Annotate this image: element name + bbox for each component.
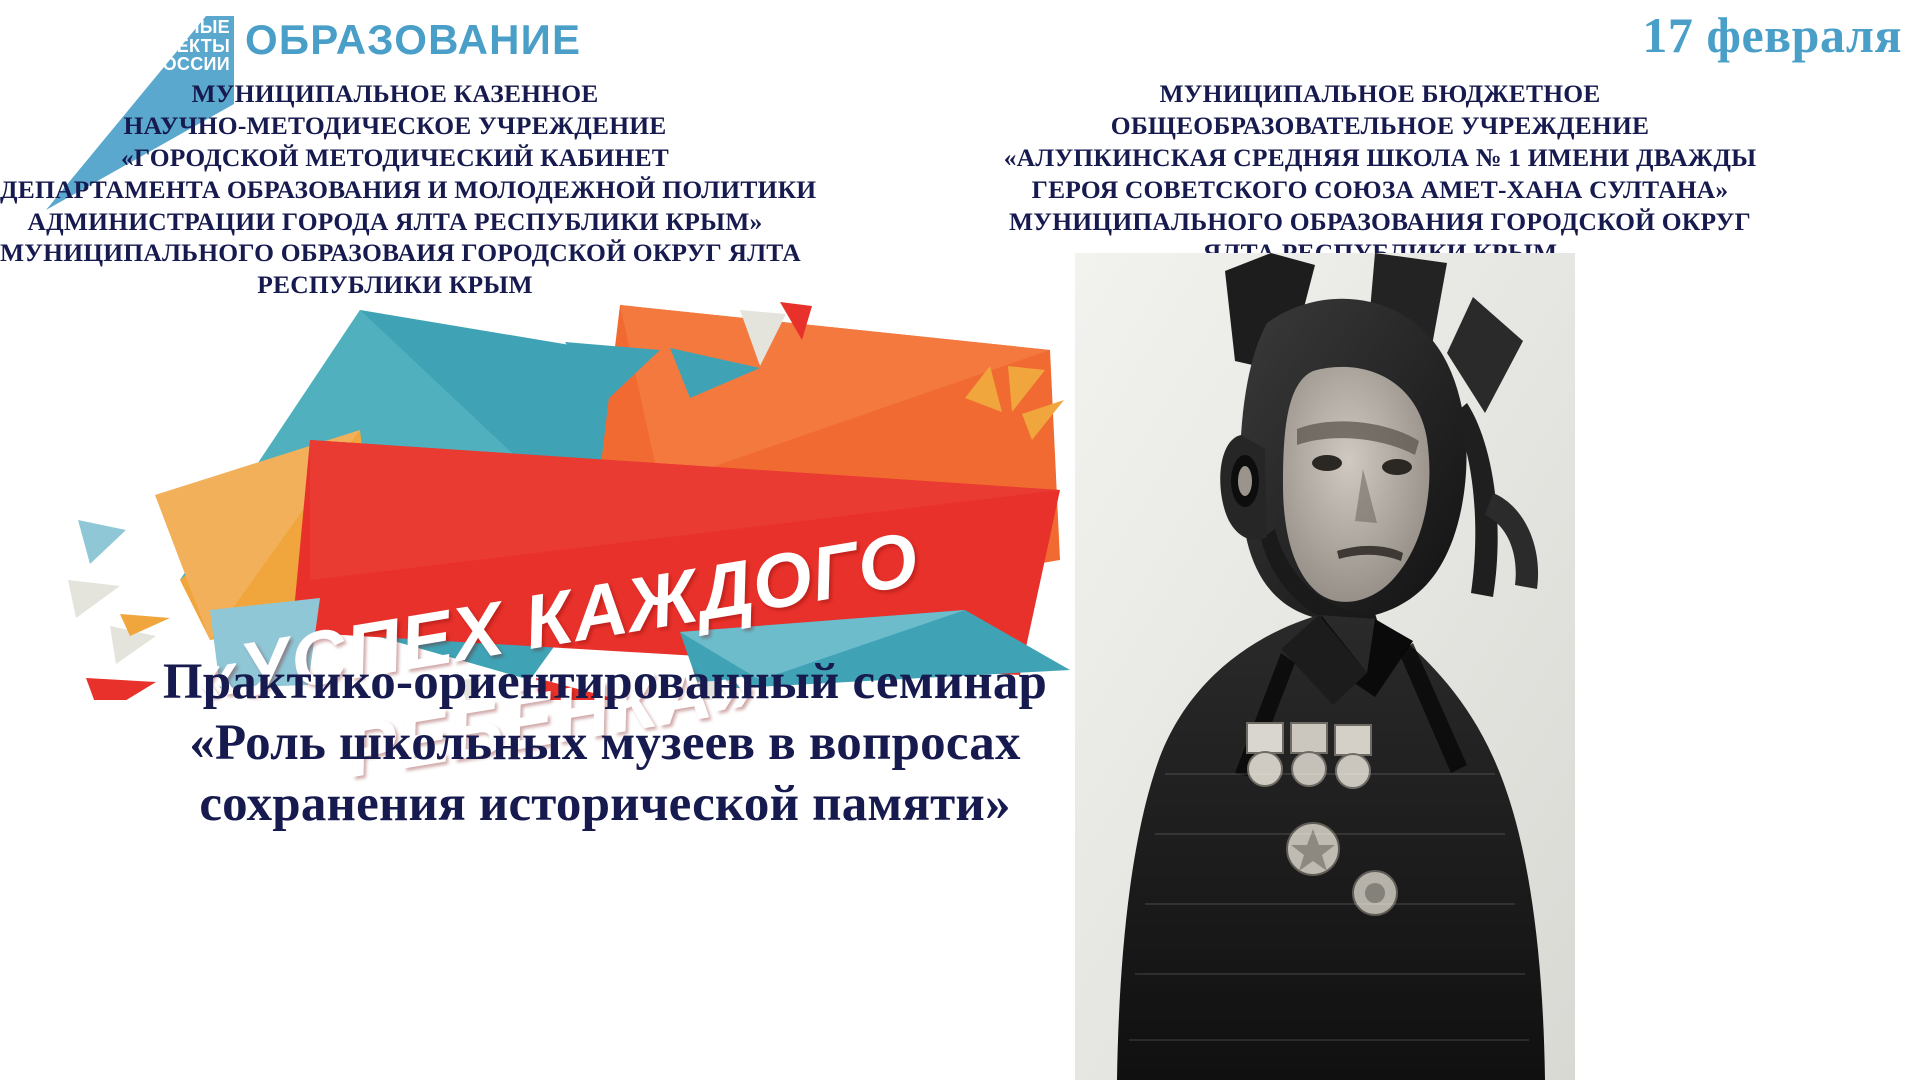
logo-wordmark: НАЦИОНАЛЬНЫЕ ПРОЕКТЫ РОССИИ xyxy=(66,18,230,74)
logo-line-3: РОССИИ xyxy=(66,55,230,74)
event-title: Практико-ориентированный семинар «Роль ш… xyxy=(100,652,1110,836)
org-left-line-1: МУНИЦИПАЛЬНОЕ КАЗЕННОЕ xyxy=(0,78,790,110)
event-title-line-1: Практико-ориентированный семинар xyxy=(100,652,1110,713)
logo-line-2: ПРОЕКТЫ xyxy=(66,37,230,56)
event-date: 17 февраля xyxy=(1642,6,1902,64)
org-left-line-3: «ГОРОДСКОЙ МЕТОДИЧЕСКИЙ КАБИНЕТ xyxy=(0,142,790,174)
org-right-line-5: МУНИЦИПАЛЬНОГО ОБРАЗОВАНИЯ ГОРОДСКОЙ ОКР… xyxy=(840,206,1920,238)
organizer-left-block: МУНИЦИПАЛЬНОЕ КАЗЕННОЕ НАУЧНО-МЕТОДИЧЕСК… xyxy=(0,78,790,301)
amet-khan-sultan-portrait xyxy=(1075,253,1575,1080)
logo-line-1: НАЦИОНАЛЬНЫЕ xyxy=(66,18,230,37)
poster-canvas: НАЦИОНАЛЬНЫЕ ПРОЕКТЫ РОССИИ ОБРАЗОВАНИЕ … xyxy=(0,0,1920,1080)
org-left-line-2: НАУЧНО-МЕТОДИЧЕСКОЕ УЧРЕЖДЕНИЕ xyxy=(0,110,790,142)
org-right-line-2: ОБЩЕОБРАЗОВАТЕЛЬНОЕ УЧРЕЖДЕНИЕ xyxy=(840,110,1920,142)
org-right-line-1: МУНИЦИПАЛЬНОЕ БЮДЖЕТНОЕ xyxy=(840,78,1920,110)
event-title-line-3: сохранения исторической памяти» xyxy=(100,774,1110,835)
org-left-line-5: АДМИНИСТРАЦИИ ГОРОДА ЯЛТА РЕСПУБЛИКИ КРЫ… xyxy=(0,206,790,238)
event-title-line-2: «Роль школьных музеев в вопросах xyxy=(100,713,1110,774)
org-right-line-4: ГЕРОЯ СОВЕТСКОГО СОЮЗА АМЕТ-ХАНА СУЛТАНА… xyxy=(840,174,1920,206)
organizer-right-block: МУНИЦИПАЛЬНОЕ БЮДЖЕТНОЕ ОБЩЕОБРАЗОВАТЕЛЬ… xyxy=(840,78,1920,269)
program-name-obrazovanie: ОБРАЗОВАНИЕ xyxy=(245,16,581,64)
org-right-line-3: «АЛУПКИНСКАЯ СРЕДНЯЯ ШКОЛА № 1 ИМЕНИ ДВА… xyxy=(840,142,1920,174)
org-left-line-4: ДЕПАРТАМЕНТА ОБРАЗОВАНИЯ И МОЛОДЕЖНОЙ ПО… xyxy=(0,174,790,206)
uspeh-kazhdogo-rebenka-banner: «УСПЕХ КАЖДОГО РЕБЁНКА» xyxy=(60,280,1070,700)
org-left-line-6: МУНИЦИПАЛЬНОГО ОБРАЗОВАИЯ ГОРОДСКОЙ ОКРУ… xyxy=(0,237,790,269)
